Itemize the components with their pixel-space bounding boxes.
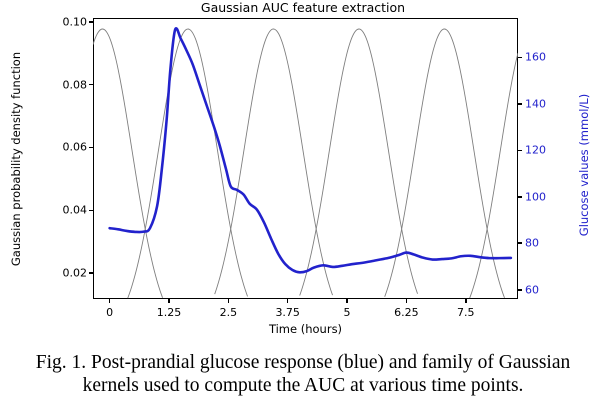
gaussian-kernel-2 xyxy=(215,29,333,295)
y-right-tick-label-1: 80 xyxy=(525,237,539,250)
gaussian-kernel-1 xyxy=(128,29,248,298)
x-tick-mark-4 xyxy=(346,299,348,303)
series-line-0 xyxy=(110,28,511,272)
x-tick-label-1: 1.25 xyxy=(157,306,182,319)
y-left-tick-label-1: 0.04 xyxy=(51,204,87,217)
y-left-tick-label-2: 0.06 xyxy=(51,141,87,154)
x-tick-mark-0 xyxy=(109,299,111,303)
y-right-tick-mark-1 xyxy=(518,242,522,244)
x-tick-label-5: 6.25 xyxy=(394,306,419,319)
x-tick-mark-6 xyxy=(465,299,467,303)
caption-line-1: Fig. 1. Post-prandial glucose response (… xyxy=(0,352,606,375)
y-right-tick-mark-3 xyxy=(518,150,522,152)
y-right-tick-mark-4 xyxy=(518,103,522,105)
plot-curves xyxy=(93,18,518,299)
y-left-tick-mark-0 xyxy=(89,272,93,274)
y-left-tick-mark-1 xyxy=(89,210,93,212)
x-tick-mark-1 xyxy=(168,299,170,303)
figure-caption: Fig. 1. Post-prandial glucose response (… xyxy=(0,352,606,397)
y-right-tick-mark-2 xyxy=(518,196,522,198)
y-axis-left-label-container: Gaussian probability density function xyxy=(6,18,26,299)
y-left-tick-label-4: 0.10 xyxy=(51,15,87,28)
y-axis-right-label-container: Glucose values (mmol/L) xyxy=(574,30,594,300)
y-left-tick-mark-4 xyxy=(89,21,93,23)
y-axis-left-label: Gaussian probability density function xyxy=(9,51,23,265)
y-left-tick-mark-2 xyxy=(89,147,93,149)
y-right-tick-label-0: 60 xyxy=(525,283,539,296)
y-right-tick-mark-0 xyxy=(518,289,522,291)
caption-line-2: kernels used to compute the AUC at vario… xyxy=(0,375,606,398)
glucose-response-curve xyxy=(110,28,511,272)
y-right-tick-mark-5 xyxy=(518,57,522,59)
y-right-tick-label-2: 100 xyxy=(525,190,546,203)
figure-panel: Gaussian AUC feature extraction Gaussian… xyxy=(0,0,606,345)
y-axis-right-label: Glucose values (mmol/L) xyxy=(577,94,591,236)
y-left-tick-mark-3 xyxy=(89,84,93,86)
y-right-tick-label-4: 140 xyxy=(525,97,546,110)
y-left-tick-label-3: 0.08 xyxy=(51,78,87,91)
x-tick-mark-2 xyxy=(228,299,230,303)
x-tick-mark-3 xyxy=(287,299,289,303)
y-right-tick-label-3: 120 xyxy=(525,144,546,157)
x-tick-mark-5 xyxy=(406,299,408,303)
x-tick-label-3: 3.75 xyxy=(275,306,300,319)
x-tick-label-4: 5 xyxy=(344,306,351,319)
chart-title: Gaussian AUC feature extraction xyxy=(0,0,606,15)
x-axis-label: Time (hours) xyxy=(93,322,518,336)
x-tick-label-0: 0 xyxy=(106,306,113,319)
y-left-tick-label-0: 0.02 xyxy=(51,267,87,280)
x-tick-label-6: 7.5 xyxy=(457,306,475,319)
y-right-tick-label-5: 160 xyxy=(525,51,546,64)
gaussian-kernel-0 xyxy=(93,29,163,298)
x-tick-label-2: 2.5 xyxy=(220,306,238,319)
